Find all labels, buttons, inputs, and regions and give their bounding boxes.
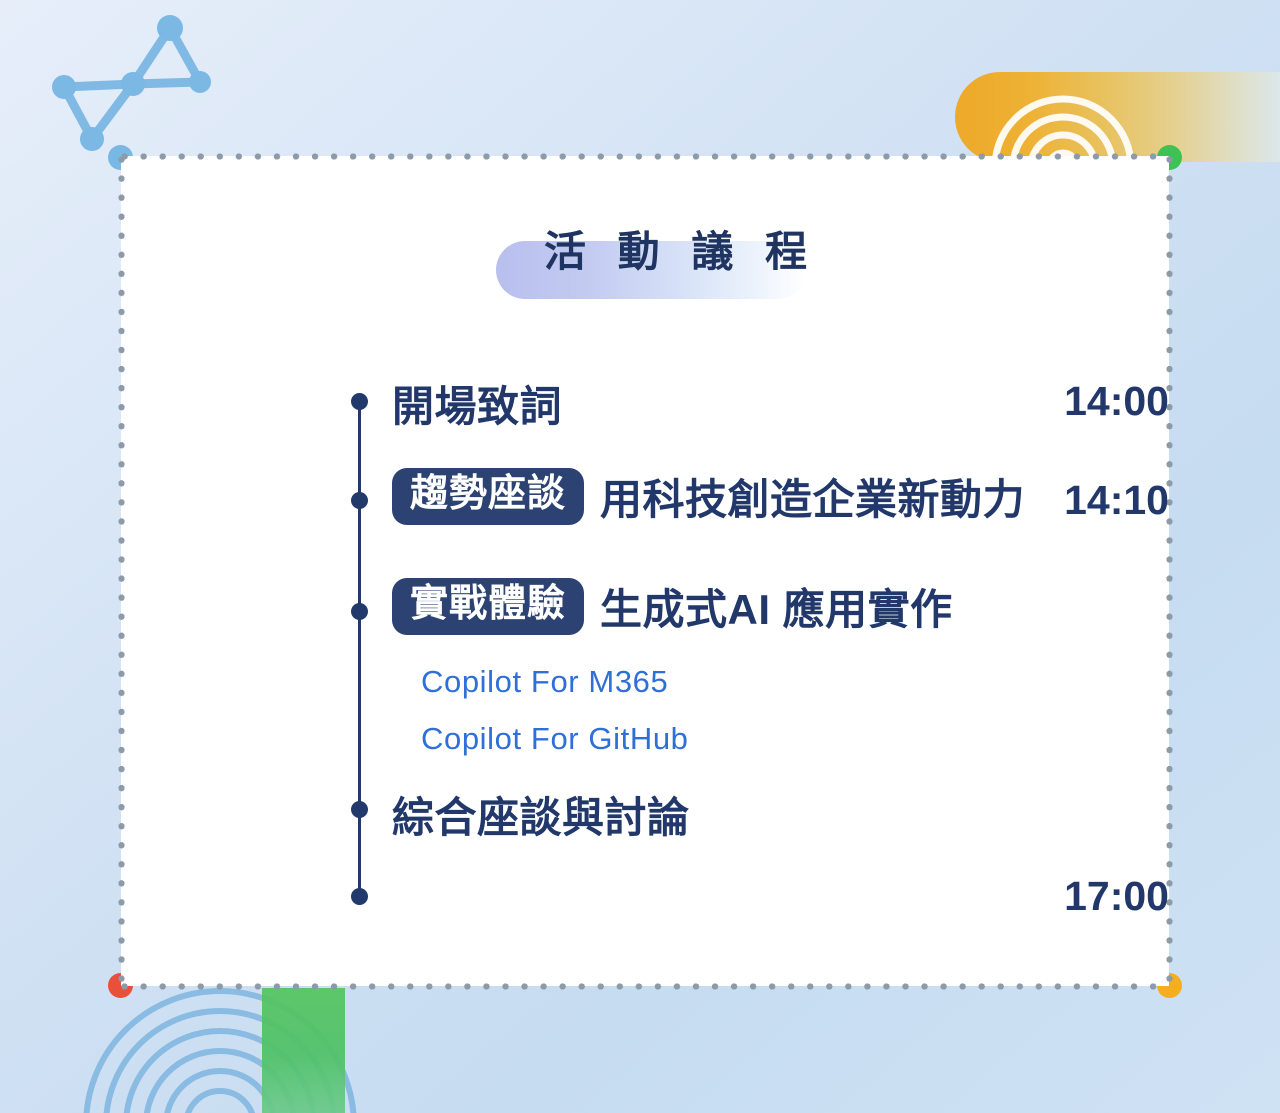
agenda-card: 活 動 議 程 14:00 14:10 17:00 開場致詞 趨勢座談 用科技創…: [121, 156, 1169, 986]
timeline-dot: [351, 492, 368, 509]
agenda-slide: 活 動 議 程 14:00 14:10 17:00 開場致詞 趨勢座談 用科技創…: [0, 0, 1280, 1113]
timeline-dot: [351, 393, 368, 410]
timeline-dot: [351, 888, 368, 905]
timeline-dot: [351, 603, 368, 620]
timeline-time-label: 14:00: [979, 378, 1169, 425]
timeline-dot: [351, 801, 368, 818]
agenda-row-badge: 實戰體驗: [392, 578, 584, 636]
agenda-row: 開場致詞: [392, 373, 562, 434]
green-bar-decoration: [262, 988, 345, 1113]
agenda-row-title: 生成式AI 應用實作: [600, 576, 953, 637]
timeline-line: [358, 402, 361, 897]
agenda-sub-item: Copilot For M365: [421, 664, 668, 700]
agenda-row: 趨勢座談 用科技創造企業新動力: [392, 466, 1025, 527]
timeline-time-label: 17:00: [979, 873, 1169, 920]
agenda-row-title: 綜合座談與討論: [392, 784, 690, 845]
amber-blob-decoration: [955, 72, 1280, 162]
agenda-timeline: 14:00 14:10 17:00 開場致詞 趨勢座談 用科技創造企業新動力 實…: [121, 156, 1169, 986]
agenda-row-badge: 趨勢座談: [392, 468, 584, 526]
agenda-row: 實戰體驗 生成式AI 應用實作: [392, 576, 953, 637]
agenda-row: 綜合座談與討論: [392, 784, 690, 845]
agenda-sub-item: Copilot For GitHub: [421, 721, 689, 757]
agenda-row-title: 開場致詞: [392, 373, 562, 434]
agenda-row-title: 用科技創造企業新動力: [600, 466, 1025, 527]
concentric-arcs-icon: [955, 72, 1280, 162]
